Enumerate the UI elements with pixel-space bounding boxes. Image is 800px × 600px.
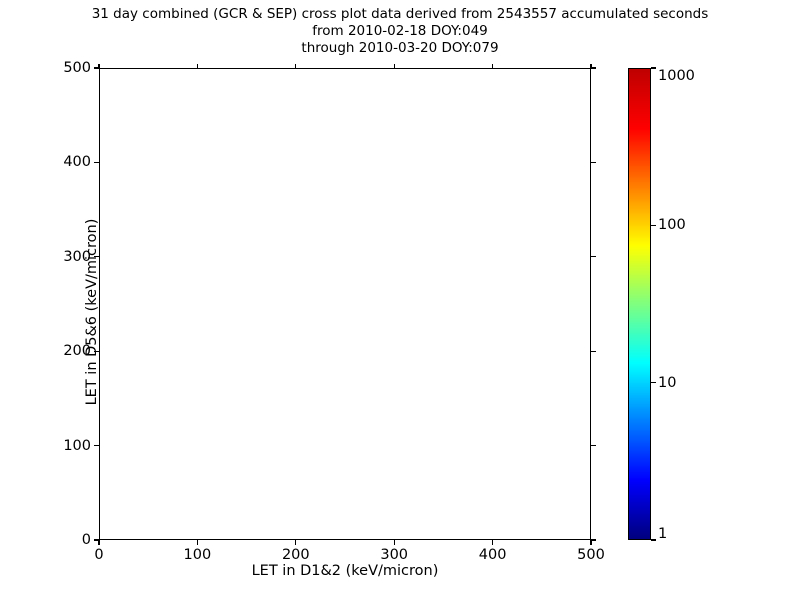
colorbar-tick-label: 10 (658, 375, 676, 391)
x-tick-label: 0 (94, 547, 103, 563)
y-axis-label: LET in D5&6 (keV/micron) (84, 76, 100, 548)
colorbar-gradient (629, 69, 650, 539)
y-tick-label: 200 (9, 343, 91, 359)
colorbar-tick-label: 1000 (658, 68, 695, 84)
x-tick-top (492, 64, 493, 68)
y-tick-label: 100 (9, 438, 91, 454)
y-tick-right (591, 539, 596, 540)
figure-canvas: 31 day combined (GCR & SEP) cross plot d… (0, 0, 800, 600)
y-tick-left (94, 67, 99, 68)
x-tick-label: 500 (577, 547, 605, 563)
title-line-1: 31 day combined (GCR & SEP) cross plot d… (0, 6, 800, 23)
y-tick-label: 300 (9, 249, 91, 265)
colorbar-tick (651, 539, 656, 540)
axes-frame (99, 68, 591, 540)
x-tick-label: 100 (184, 547, 212, 563)
y-tick-label: 500 (9, 60, 91, 76)
x-tick-label: 200 (282, 547, 310, 563)
y-tick-right (591, 351, 596, 352)
colorbar-tick (651, 382, 656, 383)
x-tick-label: 400 (479, 547, 507, 563)
x-tick-label: 300 (380, 547, 408, 563)
x-tick-bottom (295, 540, 296, 545)
y-tick-right (591, 256, 596, 257)
plot-title: 31 day combined (GCR & SEP) cross plot d… (0, 6, 800, 57)
title-line-3: through 2010-03-20 DOY:079 (0, 40, 800, 57)
colorbar-tick-label: 1 (658, 526, 667, 542)
y-tick-label: 0 (9, 532, 91, 548)
x-tick-bottom (394, 540, 395, 545)
x-tick-bottom (590, 540, 591, 545)
x-tick-bottom (492, 540, 493, 545)
x-tick-top (197, 64, 198, 68)
y-tick-right (591, 162, 596, 163)
colorbar-tick-label: 100 (658, 217, 686, 233)
x-tick-top (394, 64, 395, 68)
x-tick-top (295, 64, 296, 68)
y-tick-right (591, 67, 596, 68)
title-line-2: from 2010-02-18 DOY:049 (0, 23, 800, 40)
colorbar (628, 68, 651, 540)
x-tick-bottom (197, 540, 198, 545)
y-tick-right (591, 445, 596, 446)
x-axis-label: LET in D1&2 (keV/micron) (99, 563, 591, 579)
y-tick-label: 400 (9, 154, 91, 170)
colorbar-tick (651, 67, 656, 68)
colorbar-tick (651, 225, 656, 226)
